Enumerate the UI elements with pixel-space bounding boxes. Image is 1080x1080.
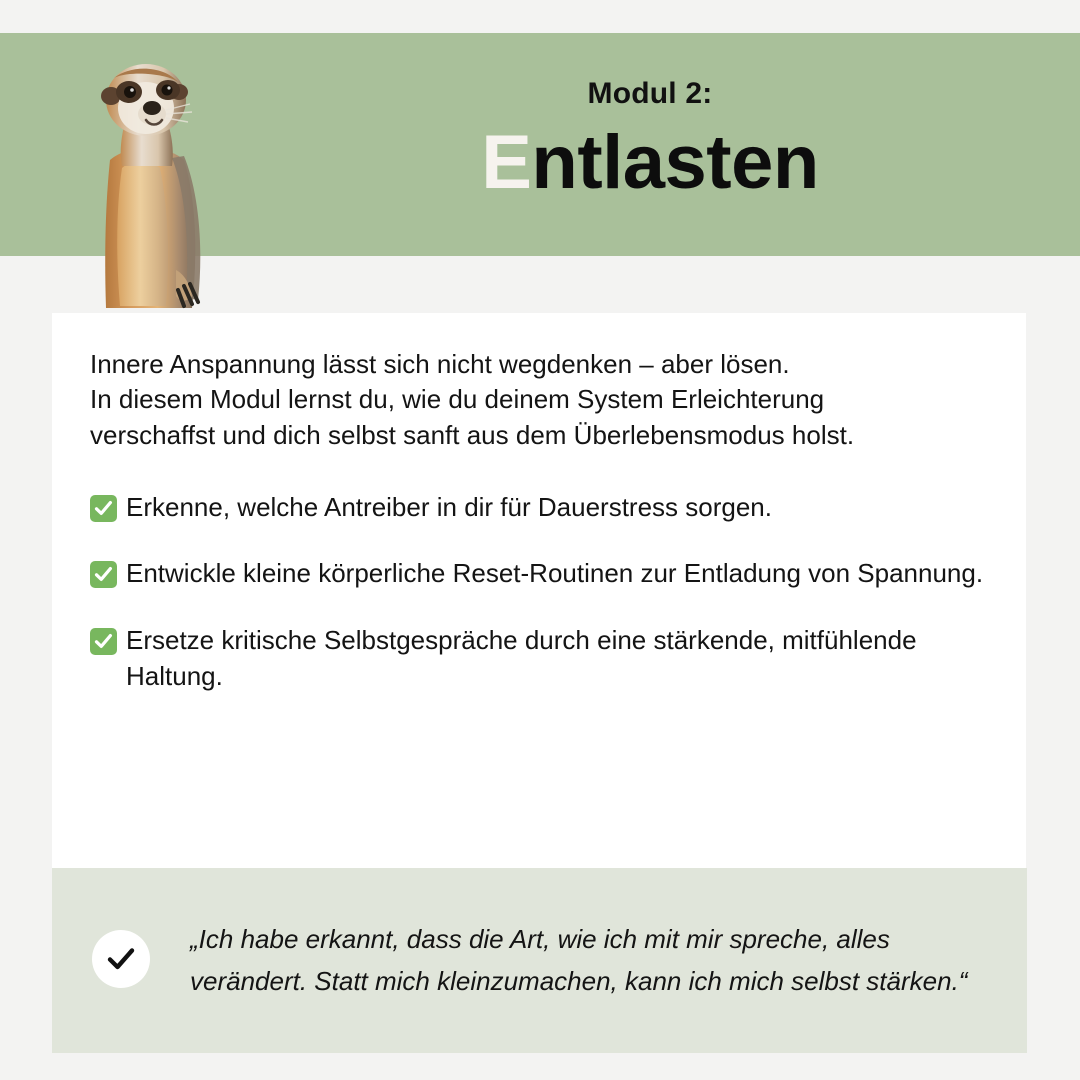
intro-line-1: Innere Anspannung lässt sich nicht wegde… (90, 347, 986, 382)
quote-panel: „Ich habe erkannt, dass die Art, wie ich… (52, 868, 1027, 1053)
intro-line-2: In diesem Modul lernst du, wie du deinem… (90, 382, 986, 417)
intro-paragraph: Innere Anspannung lässt sich nicht wegde… (90, 347, 986, 453)
check-circle-icon (92, 930, 150, 988)
checklist-item-text: Entwickle kleine körperliche Reset-Routi… (126, 555, 986, 591)
slide-root: Modul 2: Entlasten (0, 0, 1080, 1080)
meerkat-mascot-image (80, 48, 230, 313)
page-title-initial: E (481, 120, 531, 205)
meerkat-illustration (80, 48, 230, 313)
testimonial-quote: „Ich habe erkannt, dass die Art, wie ich… (190, 919, 987, 1001)
check-icon (90, 561, 117, 588)
list-item: Ersetze kritische Selbstgespräche durch … (90, 622, 986, 695)
list-item: Entwickle kleine körperliche Reset-Routi… (90, 555, 986, 591)
page-title: Entlasten (481, 123, 819, 203)
check-icon (90, 495, 117, 522)
header-title-group: Modul 2: Entlasten (260, 33, 1040, 256)
check-icon (90, 628, 117, 655)
checklist: Erkenne, welche Antreiber in dir für Dau… (90, 489, 986, 695)
checklist-item-text: Erkenne, welche Antreiber in dir für Dau… (126, 489, 986, 525)
module-label: Modul 2: (588, 79, 713, 109)
page-title-rest: ntlasten (531, 120, 818, 205)
list-item: Erkenne, welche Antreiber in dir für Dau… (90, 489, 986, 525)
intro-line-3: verschaffst und dich selbst sanft aus de… (90, 418, 986, 453)
content-card: Innere Anspannung lässt sich nicht wegde… (52, 313, 1026, 868)
checklist-item-text: Ersetze kritische Selbstgespräche durch … (126, 622, 986, 695)
